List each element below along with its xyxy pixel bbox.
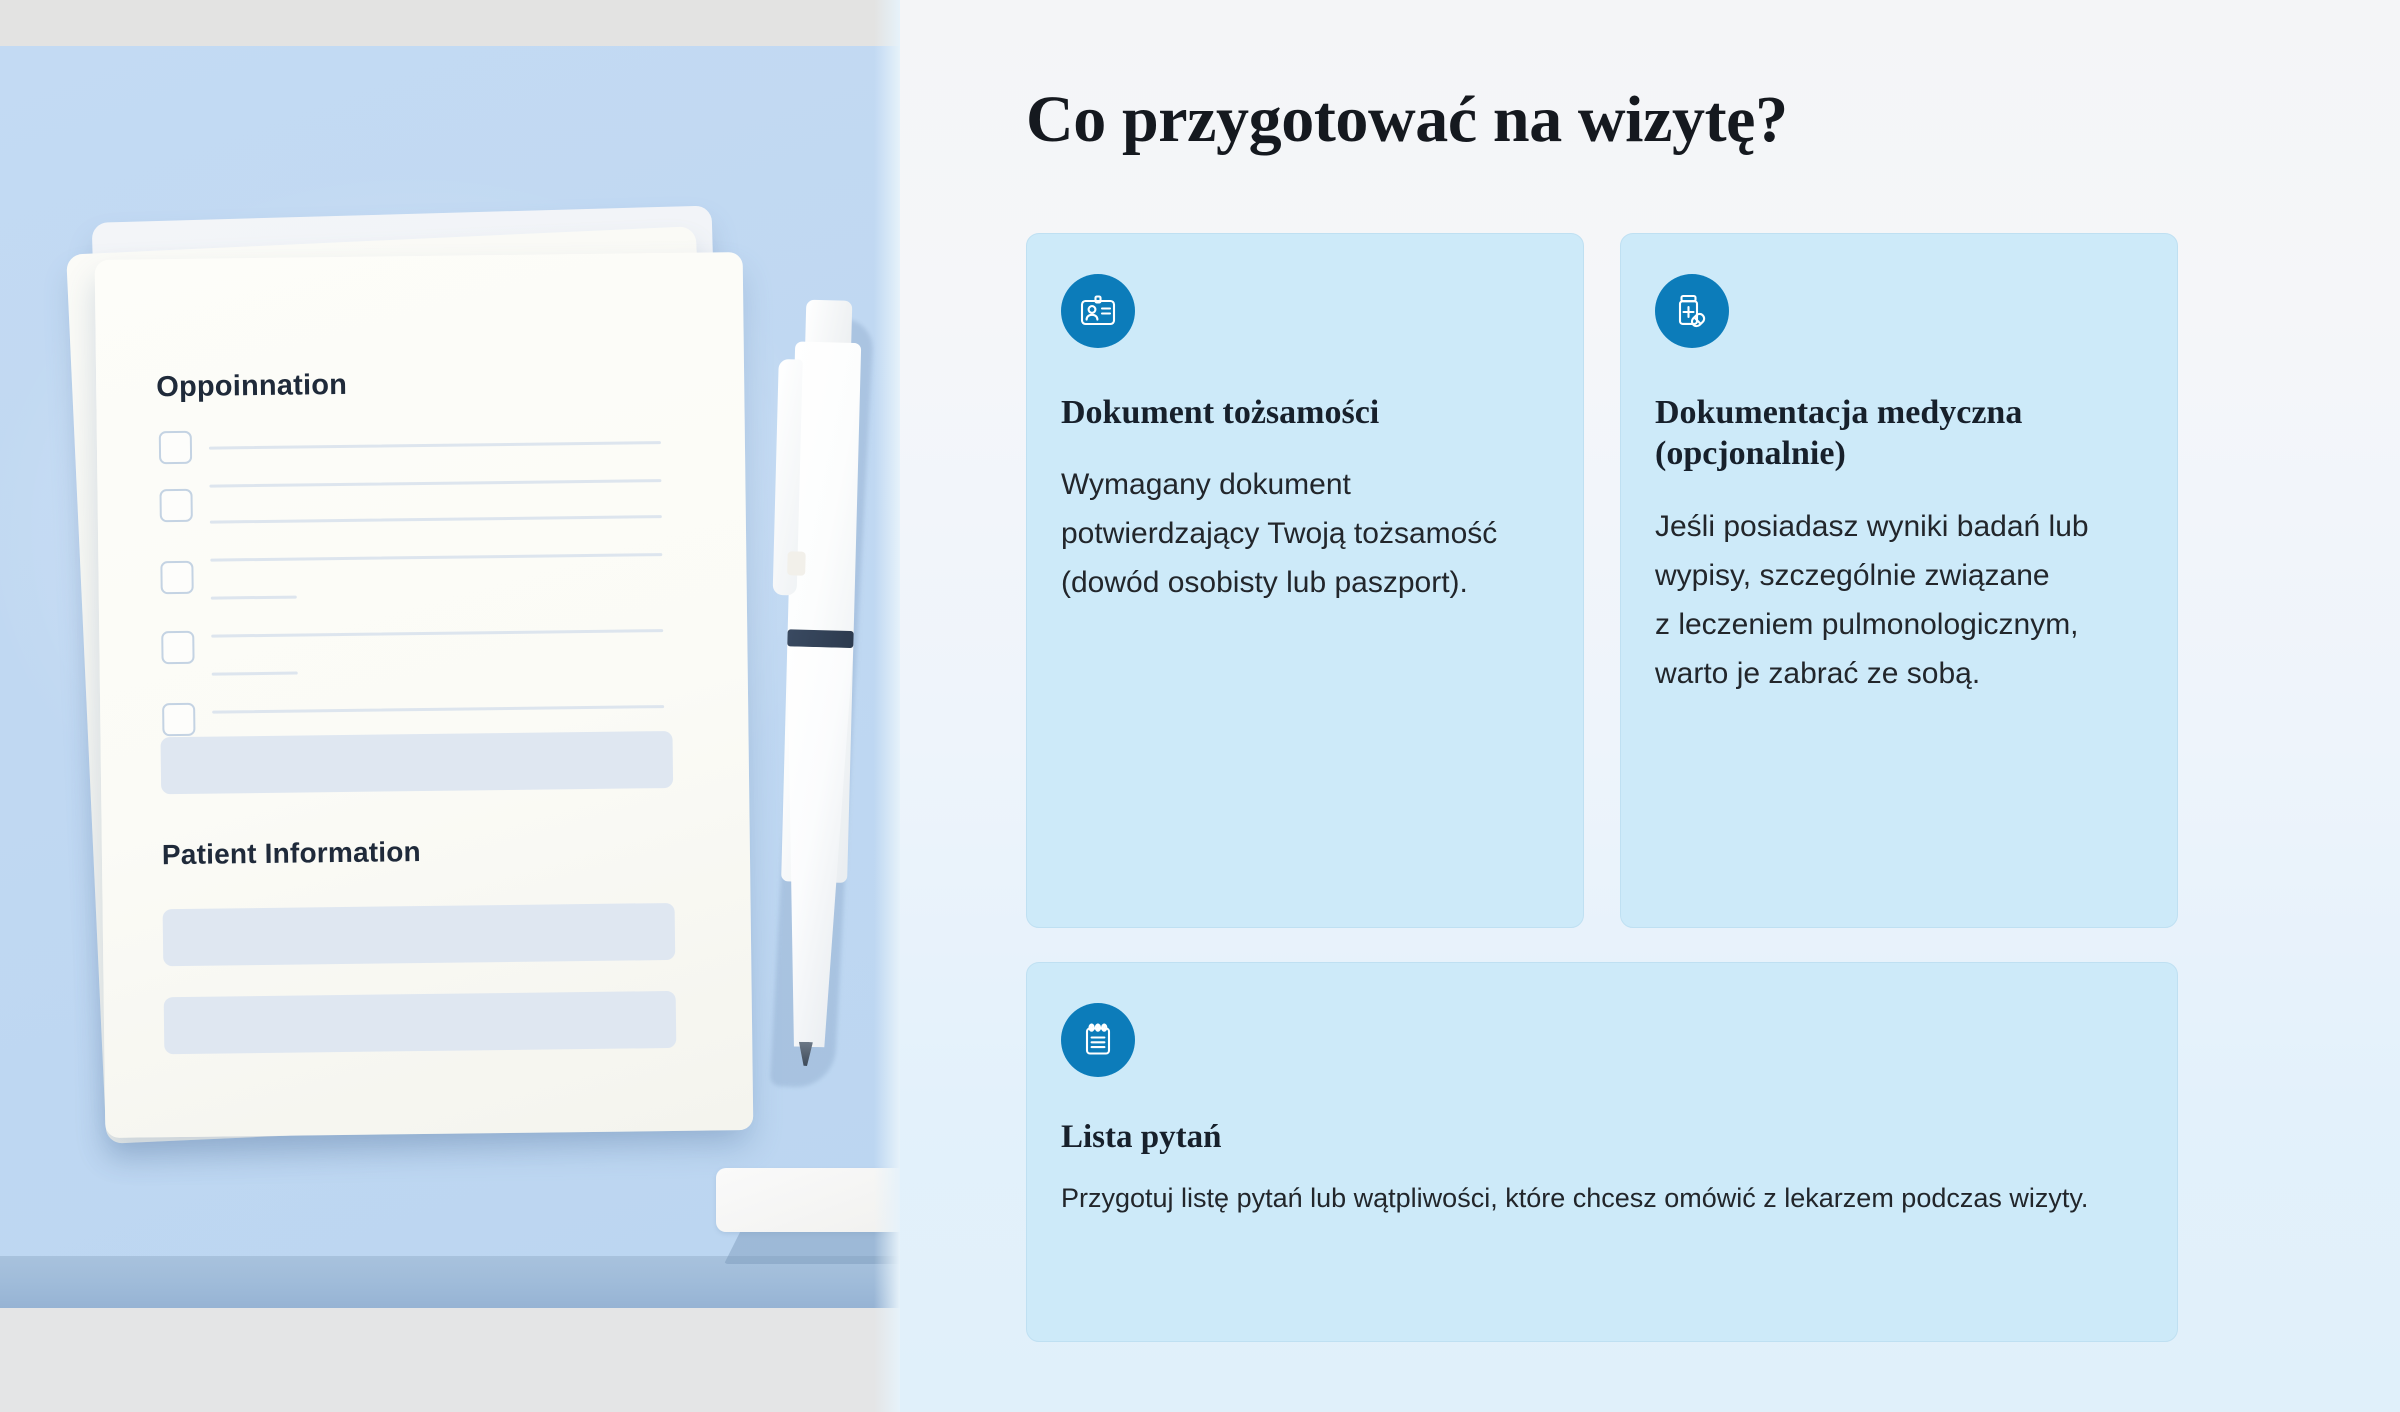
form-rule: [209, 441, 661, 450]
card-body: Przygotuj listę pytań lub wątpliwości, k…: [1061, 1177, 2143, 1221]
eraser: [716, 1168, 900, 1232]
illustration-edge-fade: [874, 0, 900, 1412]
form-rule: [211, 629, 663, 638]
id-badge-icon: [1061, 274, 1135, 348]
card-title: Dokumentacja medyczna (opcjonalnie): [1655, 392, 2143, 475]
card-identity-document[interactable]: Dokument tożsamości Wymagany dokument po…: [1026, 233, 1584, 928]
form-rule: [210, 553, 662, 562]
floor-band: [0, 1308, 900, 1412]
card-body: Jeśli posiadasz wyniki badań lub wypisy,…: [1655, 503, 2143, 699]
form-rule: [212, 672, 298, 676]
card-medical-documentation[interactable]: Dokumentacja medyczna (opcjonalnie) Jeśl…: [1620, 233, 2178, 928]
card-body: Wymagany dokument potwierdzający Twoją t…: [1061, 461, 1549, 608]
paper-sheet-front: Oppoinnation Patient Information: [95, 252, 754, 1138]
form-field-block: [163, 903, 676, 966]
form-checkbox: [160, 561, 193, 594]
pen-tip: [798, 1042, 813, 1066]
wall-band: [0, 0, 900, 46]
form-checkbox: [162, 703, 195, 736]
card-title: Dokument tożsamości: [1061, 392, 1549, 433]
cards-row-top: Dokument tożsamości Wymagany dokument po…: [1026, 233, 2178, 928]
form-heading-patient-information: Patient Information: [162, 836, 421, 871]
cards-grid: Dokument tożsamości Wymagany dokument po…: [1026, 233, 2178, 1342]
card-title: Lista pytań: [1061, 1117, 2143, 1157]
pen-band: [787, 629, 853, 648]
form-rule: [211, 596, 297, 600]
form-field-block: [164, 991, 677, 1054]
form-checkbox: [161, 631, 194, 664]
appointment-illustration: Oppoinnation Patient Information: [0, 0, 900, 1412]
notepad-icon: [1061, 1003, 1135, 1077]
form-rule: [209, 479, 661, 488]
card-question-list[interactable]: Lista pytań Przygotuj listę pytań lub wą…: [1026, 962, 2178, 1342]
medicine-bottle-icon: [1655, 274, 1729, 348]
form-heading-appointment: Oppoinnation: [156, 369, 347, 404]
page-root: Oppoinnation Patient Information: [0, 0, 2400, 1412]
form-field-block: [160, 731, 673, 794]
form-checkbox: [159, 489, 192, 522]
form-checkbox: [159, 431, 192, 464]
page-title: Co przygotować na wizytę?: [1026, 82, 1788, 158]
info-panel: Co przygotować na wizytę?: [900, 0, 2400, 1412]
form-rule: [212, 705, 664, 714]
form-rule: [210, 515, 662, 524]
pen-clip-base: [787, 551, 806, 575]
